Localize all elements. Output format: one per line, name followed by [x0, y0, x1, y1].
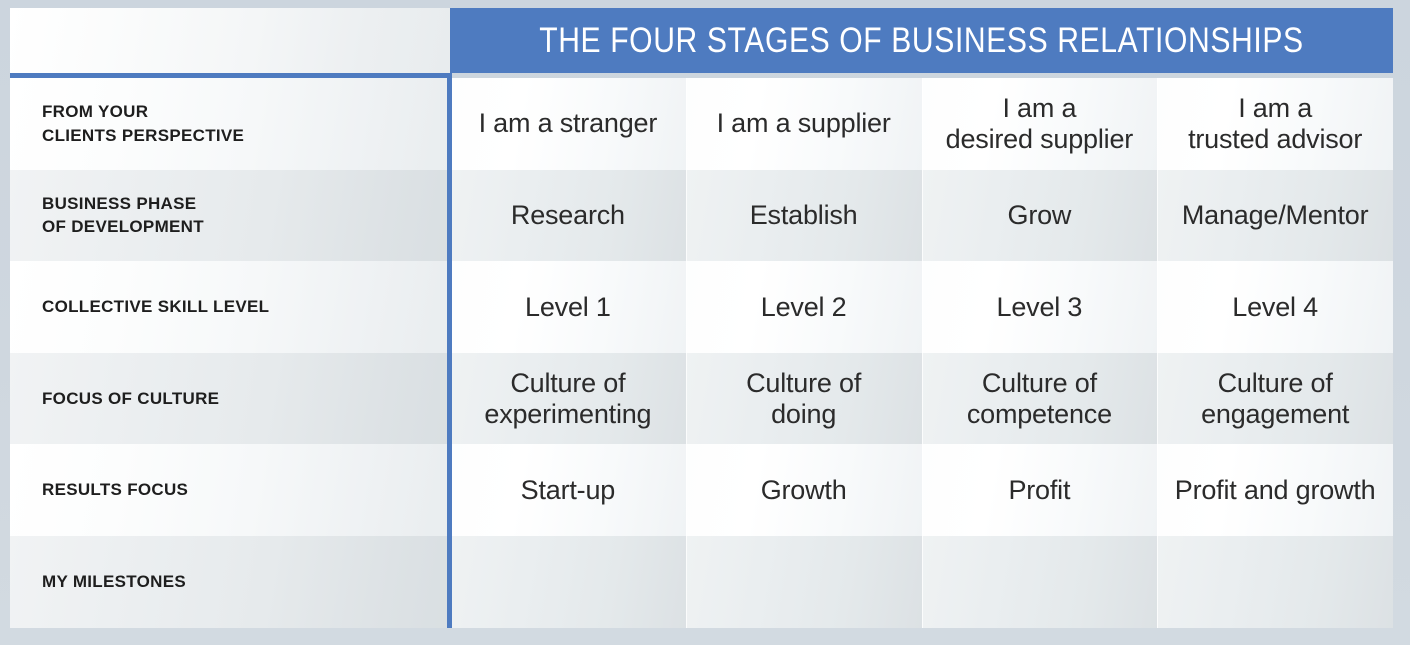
row-label-line1: MY MILESTONES	[42, 572, 186, 591]
table-cell: Level 2	[686, 261, 922, 353]
table-cell: Level 1	[450, 261, 686, 353]
cell-line1: Profit	[1008, 475, 1070, 505]
cell-line1: Manage/Mentor	[1182, 200, 1369, 230]
cell-line1: Research	[511, 200, 625, 230]
cell-line1: I am a	[1002, 93, 1076, 123]
cell-line1: I am a supplier	[717, 108, 891, 138]
cell-line1: Culture of	[982, 368, 1097, 398]
row-label-line2: CLIENTS PERSPECTIVE	[42, 126, 244, 145]
table-row: RESULTS FOCUSStart-upGrowthProfitProfit …	[10, 444, 1393, 536]
row-label-line2: OF DEVELOPMENT	[42, 217, 204, 236]
cell-line2: competence	[967, 399, 1112, 429]
table-row: BUSINESS PHASEOF DEVELOPMENTResearchEsta…	[10, 170, 1393, 262]
cell-line2: engagement	[1201, 399, 1349, 429]
cell-line2: trusted advisor	[1188, 124, 1362, 154]
table-cell: I am adesired supplier	[922, 78, 1158, 170]
table-cell: Level 4	[1157, 261, 1393, 353]
table-top-band: The Four Stages of Business Relationship…	[10, 8, 1393, 77]
table-row: FROM YOURCLIENTS PERSPECTIVEI am a stran…	[10, 78, 1393, 170]
table-cell: I am a stranger	[450, 78, 686, 170]
page-canvas: The Four Stages of Business Relationship…	[0, 0, 1410, 645]
row-label-line1: COLLECTIVE SKILL LEVEL	[42, 297, 269, 316]
cell-line1: Level 1	[525, 292, 611, 322]
cell-line2: desired supplier	[946, 124, 1133, 154]
table-cell: I am a supplier	[686, 78, 922, 170]
row-label-line1: FOCUS OF CULTURE	[42, 389, 219, 408]
table-cell	[922, 536, 1158, 628]
row-label: FOCUS OF CULTURE	[10, 353, 450, 445]
corner-cell	[10, 8, 450, 73]
table-cell: Establish	[686, 170, 922, 262]
cell-line1: Level 4	[1232, 292, 1318, 322]
title-banner: The Four Stages of Business Relationship…	[450, 8, 1393, 73]
table-cell: Level 3	[922, 261, 1158, 353]
table-cell: Research	[450, 170, 686, 262]
table-cell: Culture ofdoing	[686, 353, 922, 445]
table-row: MY MILESTONES	[10, 536, 1393, 628]
cell-line1: Growth	[761, 475, 847, 505]
row-label: BUSINESS PHASEOF DEVELOPMENT	[10, 170, 450, 262]
row-label: FROM YOURCLIENTS PERSPECTIVE	[10, 78, 450, 170]
table-cell: Growth	[686, 444, 922, 536]
page-title: The Four Stages of Business Relationship…	[539, 21, 1303, 61]
cell-line2: doing	[771, 399, 836, 429]
table-cell: Grow	[922, 170, 1158, 262]
cell-line1: Culture of	[1218, 368, 1333, 398]
cell-line1: I am a	[1238, 93, 1312, 123]
stages-table: The Four Stages of Business Relationship…	[10, 8, 1393, 628]
table-cell: I am atrusted advisor	[1157, 78, 1393, 170]
cell-line2: experimenting	[484, 399, 651, 429]
cell-line1: Level 3	[997, 292, 1083, 322]
row-label-line1: RESULTS FOCUS	[42, 480, 188, 499]
cell-line1: Establish	[750, 200, 858, 230]
cell-line1: I am a stranger	[479, 108, 658, 138]
table-cell: Profit	[922, 444, 1158, 536]
table-cell: Culture ofexperimenting	[450, 353, 686, 445]
cell-line1: Culture of	[510, 368, 625, 398]
table-cell: Culture ofengagement	[1157, 353, 1393, 445]
table-cell: Profit and growth	[1157, 444, 1393, 536]
cell-line1: Culture of	[746, 368, 861, 398]
cell-line1: Grow	[1008, 200, 1072, 230]
row-label: RESULTS FOCUS	[10, 444, 450, 536]
table-body: FROM YOURCLIENTS PERSPECTIVEI am a stran…	[10, 78, 1393, 628]
row-label-line1: FROM YOUR	[42, 102, 148, 121]
table-cell	[686, 536, 922, 628]
row-label: MY MILESTONES	[10, 536, 450, 628]
table-cell	[450, 536, 686, 628]
table-cell	[1157, 536, 1393, 628]
table-row: FOCUS OF CULTURECulture ofexperimentingC…	[10, 353, 1393, 445]
cell-line1: Profit and growth	[1175, 475, 1376, 505]
row-label-line1: BUSINESS PHASE	[42, 194, 196, 213]
table-row: COLLECTIVE SKILL LEVELLevel 1Level 2Leve…	[10, 261, 1393, 353]
cell-line1: Start-up	[521, 475, 615, 505]
label-column-blue-divider	[447, 73, 452, 628]
table-cell: Culture ofcompetence	[922, 353, 1158, 445]
cell-line1: Level 2	[761, 292, 847, 322]
table-cell: Start-up	[450, 444, 686, 536]
row-label: COLLECTIVE SKILL LEVEL	[10, 261, 450, 353]
table-cell: Manage/Mentor	[1157, 170, 1393, 262]
